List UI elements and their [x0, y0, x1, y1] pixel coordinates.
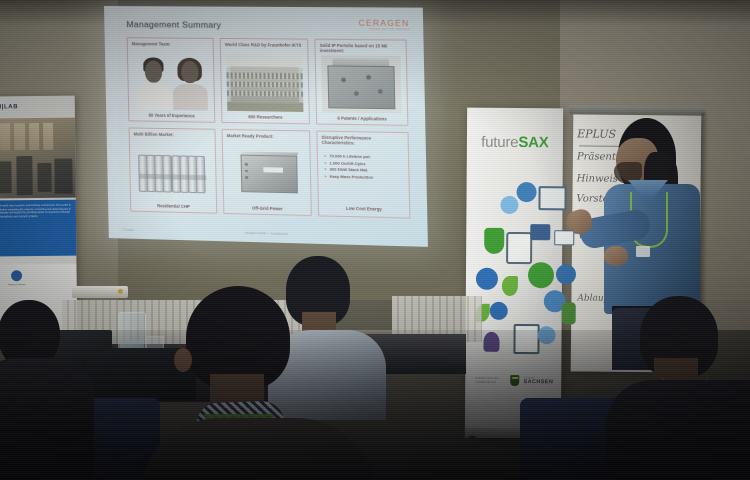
- flask-icon: [484, 228, 504, 254]
- left-banner-text-block: A world-class research and teaching envi…: [0, 200, 76, 257]
- slide-footer-left: © Ceragen: [123, 228, 135, 231]
- monitor-icon: [538, 186, 566, 210]
- slide-card-multi-billion-market: Multi Billion Market: Residential CHP: [129, 127, 218, 213]
- slide-surface: Management Summary CERAGEN POWER OUT OF …: [104, 6, 428, 247]
- futuresax-wordmark: futureSAX: [467, 134, 563, 152]
- ceragen-wordmark: CERAGEN: [359, 19, 410, 29]
- flame-icon: [502, 276, 518, 296]
- futuresax-word-light: future: [481, 134, 518, 151]
- card-caption: Residential CHP: [131, 203, 216, 210]
- slide-card-world-class-rd: World Class R&D by Fraunhofer IKTS 600 R…: [220, 38, 310, 124]
- briefcase-icon: [530, 224, 550, 240]
- card-caption: Off-Grid Power: [224, 205, 311, 212]
- left-banner-paragraph: A world-class research and teaching envi…: [0, 204, 72, 219]
- card-caption: Low Cost Energy: [319, 205, 409, 212]
- wrench-icon: [562, 302, 576, 324]
- card-title: Disruptive Performance Characteristics:: [322, 135, 405, 148]
- card-title: Solid IP Portolio based on 15 M€ investm…: [320, 43, 403, 55]
- presenter-badge: [636, 246, 650, 257]
- left-banner-photo: [0, 118, 76, 199]
- card-caption: 50 Years of Experience: [129, 112, 214, 118]
- card-title: Management Team:: [132, 41, 210, 47]
- partner-mark-icon: [11, 270, 22, 281]
- left-banner-header: N|LAB: [0, 102, 75, 115]
- slide-title: Management Summary: [126, 19, 221, 30]
- lightbulb-icon: [500, 196, 518, 214]
- portrait-photo: [133, 53, 209, 110]
- projected-slide: Management Summary CERAGEN POWER OUT OF …: [104, 6, 428, 247]
- gear-icon: [528, 262, 554, 288]
- institute-building-photo: [226, 54, 303, 112]
- ceragen-tagline: POWER OUT OF THE BOX: [359, 29, 410, 31]
- question-icon: [516, 182, 536, 202]
- flipchart-rail: [569, 105, 705, 115]
- power-unit-photo: [228, 145, 305, 204]
- ceragen-logo: CERAGEN POWER OUT OF THE BOX: [359, 19, 410, 32]
- card-caption: 600 Researchers: [222, 114, 309, 120]
- envelope-icon: [554, 230, 574, 245]
- globe-icon: [476, 268, 498, 290]
- target-icon: [556, 264, 576, 284]
- bullet-item: Easy Mass Production: [324, 173, 405, 181]
- card-title: World Class R&D by Fraunhofer IKTS: [225, 42, 304, 48]
- icon-cloud-graphic: [471, 172, 568, 353]
- cylinder-array-graphic: [135, 144, 211, 202]
- slide-card-disruptive-performance: Disruptive Performance Characteristics: …: [316, 131, 410, 219]
- floor-shadow: [0, 330, 750, 480]
- presenter-hand-lower: [604, 246, 628, 266]
- conference-room-photo: N|LAB A world-class research and teachin…: [0, 0, 750, 480]
- futuresax-word-bold: SAX: [518, 134, 548, 151]
- slide-footer: Ceragen GmbH — Confidential: [117, 228, 421, 239]
- slide-card-market-ready-product: Market Ready Product: Off-Grid Power: [222, 129, 312, 216]
- left-banner-logo: N|LAB: [0, 104, 18, 110]
- projector-led-icon: [118, 289, 123, 294]
- patent-module-photo: [321, 55, 402, 113]
- slide-card-management-team: Management Team: 50 Years of Experience: [127, 37, 216, 123]
- card-title: Market Ready Product:: [227, 133, 306, 140]
- slide-card-ip-portfolio: Solid IP Portolio based on 15 M€ investm…: [314, 39, 408, 126]
- performance-bullet-list: 70.000 h Lifetime pot. 1.000 On/Off-Cyle…: [324, 153, 405, 182]
- tablet-icon: [506, 232, 532, 264]
- card-caption: 6 Patents / Applications: [317, 115, 407, 122]
- chart-icon: [490, 302, 508, 320]
- card-title: Multi Billion Market:: [134, 131, 212, 138]
